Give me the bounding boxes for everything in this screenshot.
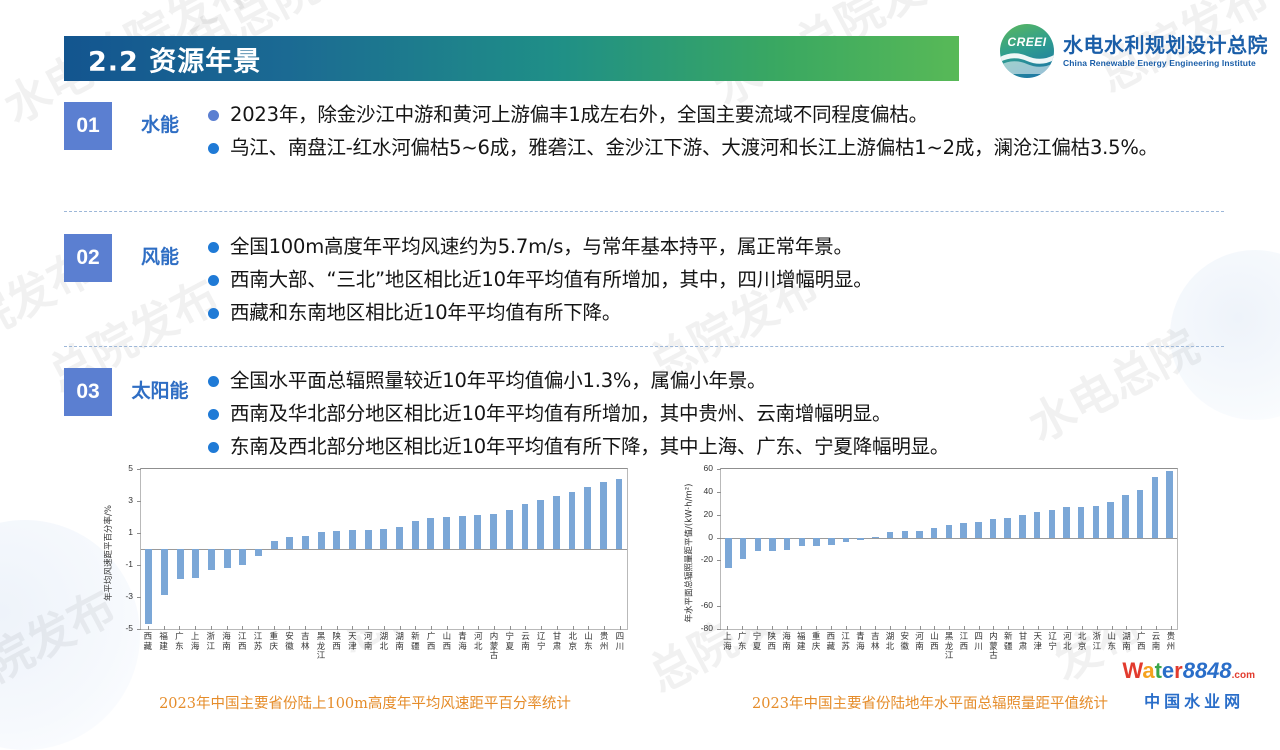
x-tick-mark [242, 626, 243, 630]
x-axis-tick: 吉林 [868, 630, 883, 688]
x-tick-label: 辽宁 [533, 633, 549, 652]
x-tick-mark [1067, 626, 1068, 630]
x-axis-tick: 浙江 [203, 630, 219, 688]
bar [946, 525, 952, 538]
x-axis-tick: 广东 [171, 630, 187, 688]
x-tick-label: 湖北 [883, 633, 898, 652]
bar-cell [883, 469, 898, 629]
bar-cell [897, 469, 912, 629]
x-tick-label: 青海 [853, 633, 868, 652]
x-axis-tick: 湖北 [883, 630, 898, 688]
x-axis-tick: 天津 [1030, 630, 1045, 688]
bar [916, 531, 922, 538]
bar-cell [721, 469, 736, 629]
bar-cell [956, 469, 971, 629]
bar-cell [912, 469, 927, 629]
bar-cell [1162, 469, 1177, 629]
x-axis-tick: 上海 [187, 630, 203, 688]
bullet-dot-icon [208, 110, 219, 121]
list-item: 西南大部、“三北”地区相比近10年平均值有所增加，其中，四川增幅明显。 [208, 265, 1244, 295]
x-tick-label: 黑龙江 [313, 633, 329, 662]
x-axis-tick: 江西 [957, 630, 972, 688]
bullet-dot-icon [208, 143, 219, 154]
x-tick-mark [227, 626, 228, 630]
bar [255, 549, 262, 556]
x-tick-mark [321, 626, 322, 630]
bar [857, 538, 863, 541]
x-axis-tick: 北京 [565, 630, 581, 688]
x-tick-label: 湖南 [1119, 633, 1134, 652]
plot-area [720, 468, 1178, 630]
x-tick-mark [1112, 626, 1113, 630]
bar-cell [868, 469, 883, 629]
bar [271, 541, 278, 549]
logo-mark-text: CREEI [1000, 35, 1054, 49]
y-tick-mark [717, 515, 721, 516]
x-tick-mark [964, 626, 965, 630]
bar [584, 487, 591, 549]
section-number-badge: 03 [64, 368, 112, 416]
x-tick-label: 河北 [1060, 633, 1075, 652]
bar [177, 549, 184, 579]
x-axis-tick: 福建 [156, 630, 172, 688]
y-tick-label: -60 [701, 600, 713, 610]
bullet-dot-icon [208, 308, 219, 319]
x-tick-mark [494, 626, 495, 630]
bar [769, 538, 775, 551]
brand-line2: 中国水业网 [1122, 688, 1266, 712]
x-axis-tick: 湖北 [376, 630, 392, 688]
bar-cell [765, 469, 780, 629]
plot-area [140, 468, 628, 630]
x-axis-tick: 宁夏 [502, 630, 518, 688]
chart-caption: 2023年中国主要省份陆上100m高度年平均风速距平百分率统计 [100, 692, 630, 713]
bar-cell [204, 469, 220, 629]
x-tick-mark [384, 626, 385, 630]
bar-cell [548, 469, 564, 629]
x-tick-mark [1171, 626, 1172, 630]
x-axis-tick: 浙江 [1090, 630, 1105, 688]
x-tick-mark [1023, 626, 1024, 630]
y-tick-label: -5 [125, 623, 133, 633]
x-axis-tick: 山西 [439, 630, 455, 688]
bar [616, 479, 623, 549]
y-tick-label: 40 [704, 486, 713, 496]
y-axis-ticks: 531-1-3-5 [100, 468, 138, 628]
bar [474, 515, 481, 549]
x-tick-mark [620, 626, 621, 630]
x-axis-tick: 广西 [423, 630, 439, 688]
x-tick-label: 河北 [470, 633, 486, 652]
x-tick-mark [993, 626, 994, 630]
y-tick-label: 0 [708, 532, 713, 542]
x-tick-label: 安徽 [282, 633, 298, 652]
x-tick-mark [557, 626, 558, 630]
x-axis-tick: 内蒙古 [986, 630, 1001, 688]
x-tick-mark [979, 626, 980, 630]
bar [990, 519, 996, 537]
section-title-bar: 2.2 资源年景 [64, 36, 959, 81]
x-axis-tick: 江西 [234, 630, 250, 688]
x-tick-label: 广西 [1134, 633, 1149, 652]
x-axis-tick: 上海 [720, 630, 735, 688]
bullet-dot-icon [208, 376, 219, 387]
bullet-list: 全国100m高度年平均风速约为5.7m/s，与常年基本持平，属正常年景。 西南大… [208, 228, 1244, 331]
x-tick-mark [1156, 626, 1157, 630]
bullet-dot-icon [208, 242, 219, 253]
bar-cell [971, 469, 986, 629]
wave-icon [1000, 48, 1054, 74]
x-axis-tick: 辽宁 [533, 630, 549, 688]
x-tick-mark [289, 626, 290, 630]
x-tick-mark [541, 626, 542, 630]
x-axis-tick: 陕西 [764, 630, 779, 688]
x-axis-tick: 黑龙江 [942, 630, 957, 688]
x-tick-label: 河南 [912, 633, 927, 652]
bullet-dot-icon [208, 275, 219, 286]
x-axis-tick: 内蒙古 [486, 630, 502, 688]
bar-cell [486, 469, 502, 629]
x-axis-tick: 青海 [455, 630, 471, 688]
x-tick-label: 江西 [234, 633, 250, 652]
bar [725, 538, 731, 568]
y-tick-label: 5 [128, 463, 133, 473]
x-tick-label: 甘肃 [549, 633, 565, 652]
bar-cell [266, 469, 282, 629]
x-tick-label: 青海 [455, 633, 471, 652]
x-tick-mark [890, 626, 891, 630]
x-axis-tick: 新疆 [407, 630, 423, 688]
x-tick-label: 陕西 [764, 633, 779, 652]
x-axis-tick: 河北 [470, 630, 486, 688]
x-tick-mark [258, 626, 259, 630]
x-tick-mark [274, 626, 275, 630]
bar [318, 532, 325, 549]
bar [1019, 515, 1025, 538]
bar-cell [927, 469, 942, 629]
bar-cell [470, 469, 486, 629]
bar-cell [809, 469, 824, 629]
y-tick-mark [137, 597, 141, 598]
logo-name-cn: 水电水利规划设计总院 [1063, 35, 1268, 56]
x-tick-label: 浙江 [203, 633, 219, 652]
x-tick-mark [588, 626, 589, 630]
x-tick-label: 重庆 [266, 633, 282, 652]
x-axis-tick: 新疆 [1001, 630, 1016, 688]
bar-cell [407, 469, 423, 629]
bar-cell [313, 469, 329, 629]
bar-cell [839, 469, 854, 629]
y-tick-mark [137, 565, 141, 566]
x-tick-label: 新疆 [407, 633, 423, 652]
x-tick-label: 吉林 [297, 633, 313, 652]
bar [1049, 510, 1055, 537]
x-tick-mark [1038, 626, 1039, 630]
x-axis-tick: 安徽 [897, 630, 912, 688]
x-tick-label: 广东 [735, 633, 750, 652]
x-tick-label: 河南 [360, 633, 376, 652]
bar-cell [736, 469, 751, 629]
x-tick-mark [525, 626, 526, 630]
x-tick-label: 云南 [518, 633, 534, 652]
x-axis-tick: 四川 [971, 630, 986, 688]
x-axis-tick: 甘肃 [1016, 630, 1031, 688]
x-tick-label: 江西 [957, 633, 972, 652]
section-solar: 03 太阳能 全国水平面总辐照量较近10年平均值偏小1.3%，属偏小年景。 西南… [64, 362, 1244, 465]
bar-cell [517, 469, 533, 629]
x-tick-mark [478, 626, 479, 630]
bullet-text: 全国100m高度年平均风速约为5.7m/s，与常年基本持平，属正常年景。 [230, 232, 853, 262]
x-tick-label: 西藏 [823, 633, 838, 652]
y-tick-mark [717, 492, 721, 493]
x-axis-tick: 山东 [1104, 630, 1119, 688]
x-tick-mark [510, 626, 511, 630]
x-tick-mark [860, 626, 861, 630]
x-tick-label: 宁夏 [502, 633, 518, 652]
bullet-dot-icon [208, 409, 219, 420]
bar [427, 518, 434, 549]
bar-cell [1133, 469, 1148, 629]
bar-cell [1059, 469, 1074, 629]
x-tick-label: 山东 [1104, 633, 1119, 652]
x-tick-mark [1053, 626, 1054, 630]
y-tick-mark [717, 606, 721, 607]
x-tick-mark [1097, 626, 1098, 630]
bar-cell [533, 469, 549, 629]
bar [161, 549, 168, 595]
bar-cell [1103, 469, 1118, 629]
bar [902, 531, 908, 537]
bar-cell [611, 469, 627, 629]
y-tick-mark [717, 538, 721, 539]
x-tick-label: 海南 [779, 633, 794, 652]
chart-solar-anomaly: 年水平面总辐照量距平值/(kW·h/m²) 6040200-20-60-80 上… [680, 468, 1180, 720]
bar-cell [750, 469, 765, 629]
bar-cell [1147, 469, 1162, 629]
bar [490, 514, 497, 549]
bar [755, 538, 761, 551]
y-tick-mark [717, 469, 721, 470]
x-tick-label: 四川 [971, 633, 986, 652]
bar [553, 496, 560, 549]
x-tick-label: 内蒙古 [986, 633, 1001, 662]
x-tick-label: 甘肃 [1016, 633, 1031, 652]
x-tick-label: 广东 [171, 633, 187, 652]
x-tick-label: 天津 [1030, 633, 1045, 652]
x-axis-tick: 山东 [581, 630, 597, 688]
x-tick-mark [875, 626, 876, 630]
x-axis-tick: 四川 [612, 630, 628, 688]
brand-line1: Water8848.com [1122, 660, 1266, 687]
x-tick-mark [211, 626, 212, 630]
x-axis-tick: 江苏 [250, 630, 266, 688]
bar-cell [595, 469, 611, 629]
y-tick-label: 20 [704, 509, 713, 519]
bar [931, 528, 937, 537]
bar [239, 549, 246, 565]
bar [522, 504, 529, 549]
bar-cell [329, 469, 345, 629]
bar-cell [298, 469, 314, 629]
bullet-text: 全国水平面总辐照量较近10年平均值偏小1.3%，属偏小年景。 [230, 366, 766, 396]
x-tick-label: 山东 [581, 633, 597, 652]
x-tick-mark [846, 626, 847, 630]
x-axis-tick: 湖南 [392, 630, 408, 688]
x-tick-label: 广西 [423, 633, 439, 652]
bullet-text: 西南及华北部分地区相比近10年平均值有所增加，其中贵州、云南增幅明显。 [230, 399, 891, 429]
x-tick-label: 湖北 [376, 633, 392, 652]
x-tick-label: 重庆 [809, 633, 824, 652]
bar [569, 492, 576, 549]
x-tick-label: 北京 [565, 633, 581, 652]
x-tick-mark [949, 626, 950, 630]
x-tick-label: 云南 [1149, 633, 1164, 652]
x-axis-tick: 山西 [927, 630, 942, 688]
bar-cell [188, 469, 204, 629]
x-axis-tick: 贵州 [596, 630, 612, 688]
x-tick-mark [831, 626, 832, 630]
x-axis-tick: 西藏 [140, 630, 156, 688]
x-tick-label: 贵州 [1163, 633, 1178, 652]
organization-logo: CREEI 水电水利规划设计总院 China Renewable Energy … [1000, 24, 1268, 78]
list-item: 东南及西北部分地区相比近10年平均值有所下降，其中上海、广东、宁夏降幅明显。 [208, 432, 1244, 462]
bar-cell [1118, 469, 1133, 629]
bar [302, 536, 309, 549]
bar [843, 538, 849, 543]
bar [740, 538, 746, 559]
bullet-text: 西南大部、“三北”地区相比近10年平均值有所增加，其中，四川增幅明显。 [230, 265, 873, 295]
x-tick-label: 内蒙古 [486, 633, 502, 662]
list-item: 2023年，除金沙江中游和黄河上游偏丰1成左右外，全国主要流域不同程度偏枯。 [208, 100, 1244, 130]
list-item: 乌江、南盘江-红水河偏枯5~6成，雅砻江、金沙江下游、大渡河和长江上游偏枯1~2… [208, 133, 1244, 163]
x-tick-mark [164, 626, 165, 630]
bar [1093, 506, 1099, 538]
x-tick-mark [305, 626, 306, 630]
bar-cell [251, 469, 267, 629]
bar-cell [780, 469, 795, 629]
bar [1034, 512, 1040, 537]
x-tick-mark [415, 626, 416, 630]
bar [286, 537, 293, 549]
bar-cell [853, 469, 868, 629]
bullet-list: 2023年，除金沙江中游和黄河上游偏丰1成左右外，全国主要流域不同程度偏枯。 乌… [208, 96, 1244, 166]
bar [192, 549, 199, 578]
chart-caption: 2023年中国主要省份陆地年水平面总辐照量距平值统计 [680, 692, 1180, 713]
bar [784, 538, 790, 551]
bar [828, 538, 834, 545]
y-tick-label: 3 [128, 495, 133, 505]
bullet-list: 全国水平面总辐照量较近10年平均值偏小1.3%，属偏小年景。 西南及华北部分地区… [208, 362, 1244, 465]
x-tick-mark [352, 626, 353, 630]
x-tick-mark [1008, 626, 1009, 630]
y-tick-label: -1 [125, 559, 133, 569]
y-tick-mark [717, 560, 721, 561]
bar-series [141, 469, 627, 629]
bar-cell [1089, 469, 1104, 629]
bar [887, 532, 893, 538]
bar [813, 538, 819, 546]
bar [1004, 518, 1010, 538]
x-axis-tick: 青海 [853, 630, 868, 688]
bar [537, 500, 544, 549]
x-axis-tick: 江苏 [838, 630, 853, 688]
bar-cell [501, 469, 517, 629]
bar-cell [172, 469, 188, 629]
section-label-hydro: 水能 [112, 110, 208, 137]
bar [975, 522, 981, 538]
bar-cell [439, 469, 455, 629]
bar [208, 549, 215, 570]
x-axis-tick: 辽宁 [1045, 630, 1060, 688]
y-tick-label: -20 [701, 554, 713, 564]
bar-cell [564, 469, 580, 629]
y-tick-label: -3 [125, 591, 133, 601]
bar-cell [942, 469, 957, 629]
bar [1063, 507, 1069, 537]
x-tick-mark [801, 626, 802, 630]
bar-cell [824, 469, 839, 629]
x-axis-tick: 吉林 [297, 630, 313, 688]
list-item: 西藏和东南地区相比近10年平均值有所下降。 [208, 298, 1244, 328]
logo-name-en: China Renewable Energy Engineering Insti… [1063, 58, 1268, 68]
bullet-text: 乌江、南盘江-红水河偏枯5~6成，雅砻江、金沙江下游、大渡河和长江上游偏枯1~2… [230, 133, 1158, 163]
bullet-text: 西藏和东南地区相比近10年平均值有所下降。 [230, 298, 621, 328]
bar-cell [1030, 469, 1045, 629]
y-tick-mark [137, 469, 141, 470]
x-tick-mark [905, 626, 906, 630]
bar-series [721, 469, 1177, 629]
x-axis-tick: 西藏 [823, 630, 838, 688]
bar [459, 516, 466, 549]
y-tick-label: 1 [128, 527, 133, 537]
x-tick-label: 安徽 [897, 633, 912, 652]
bar [1137, 490, 1143, 538]
x-tick-label: 海南 [219, 633, 235, 652]
bar-cell [141, 469, 157, 629]
y-tick-label: -80 [701, 623, 713, 633]
x-tick-mark [400, 626, 401, 630]
x-tick-label: 上海 [720, 633, 735, 652]
x-tick-mark [604, 626, 605, 630]
section-label-wind: 风能 [112, 242, 208, 269]
bar [224, 549, 231, 568]
x-axis-tick: 广东 [735, 630, 750, 688]
x-tick-mark [337, 626, 338, 630]
x-tick-label: 浙江 [1090, 633, 1105, 652]
x-tick-mark [742, 626, 743, 630]
charts-row: 年平均风速距平百分率/% 531-1-3-5 西藏福建广东上海浙江海南江西江苏重… [0, 468, 1280, 720]
bar [1152, 477, 1158, 538]
bar-cell [1000, 469, 1015, 629]
x-tick-mark [1141, 626, 1142, 630]
bar [1122, 495, 1128, 537]
section-divider [64, 346, 1224, 347]
y-tick-mark [137, 501, 141, 502]
list-item: 全国100m高度年平均风速约为5.7m/s，与常年基本持平，属正常年景。 [208, 232, 1244, 262]
x-axis-tick: 海南 [779, 630, 794, 688]
bar-cell [157, 469, 173, 629]
section-number-badge: 01 [64, 102, 112, 150]
bar-cell [360, 469, 376, 629]
bar-cell [376, 469, 392, 629]
x-axis-tick: 海南 [219, 630, 235, 688]
bar-cell [795, 469, 810, 629]
list-item: 全国水平面总辐照量较近10年平均值偏小1.3%，属偏小年景。 [208, 366, 1244, 396]
bar [1078, 507, 1084, 537]
x-tick-mark [727, 626, 728, 630]
x-tick-label: 吉林 [868, 633, 883, 652]
y-tick-label: 60 [704, 463, 713, 473]
